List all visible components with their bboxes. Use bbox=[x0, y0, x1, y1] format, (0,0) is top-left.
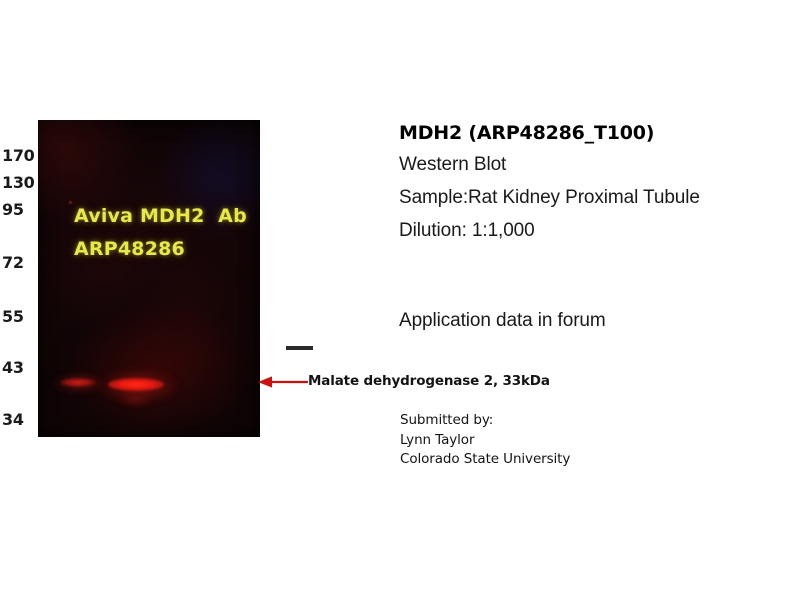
band-lane2 bbox=[108, 378, 164, 391]
ladder-mark-95: 95 bbox=[0, 202, 36, 218]
ladder-mark-55: 55 bbox=[0, 309, 36, 325]
info-dilution: Dilution: 1:1,000 bbox=[399, 214, 800, 247]
band-lane2-tail bbox=[118, 394, 152, 406]
submitted-by-institution: Colorado State University bbox=[400, 450, 570, 470]
left-arrow-icon bbox=[256, 373, 312, 391]
figure-title: MDH2 (ARP48286_T100) bbox=[399, 118, 800, 148]
dash-marker bbox=[286, 346, 313, 350]
submitted-by-block: Submitted by: Lynn Taylor Colorado State… bbox=[400, 411, 570, 470]
band-callout: Malate dehydrogenase 2, 33kDa bbox=[256, 373, 596, 391]
blot-annotation-line-1: Aviva MDH2 Ab bbox=[74, 205, 247, 227]
ladder-mark-72: 72 bbox=[0, 255, 36, 271]
blot-annotation-line-2: ARP48286 bbox=[74, 238, 185, 260]
blot-speck bbox=[68, 200, 73, 205]
ladder-mark-130: 130 bbox=[0, 175, 36, 191]
western-blot-membrane: Aviva MDH2 Ab ARP48286 bbox=[38, 120, 260, 437]
submitted-by-heading: Submitted by: bbox=[400, 411, 570, 431]
western-blot-figure: 170 130 95 72 55 43 34 Aviva MDH2 Ab ARP… bbox=[0, 0, 800, 600]
info-sample: Sample:Rat Kidney Proximal Tubule bbox=[399, 181, 800, 214]
ladder-mark-170: 170 bbox=[0, 148, 36, 164]
molecular-weight-ladder: 170 130 95 72 55 43 34 bbox=[0, 118, 36, 440]
band-callout-label: Malate dehydrogenase 2, 33kDa bbox=[308, 373, 550, 390]
info-panel: MDH2 (ARP48286_T100) Western Blot Sample… bbox=[399, 118, 800, 247]
info-assay-type: Western Blot bbox=[399, 148, 800, 181]
band-lane1 bbox=[60, 378, 96, 387]
band-lane2-glow bbox=[96, 368, 180, 404]
band-lane1-glow bbox=[52, 372, 106, 394]
ladder-mark-34: 34 bbox=[0, 412, 36, 428]
ladder-mark-43: 43 bbox=[0, 360, 36, 376]
blot-background-noise bbox=[38, 120, 260, 437]
submitted-by-person: Lynn Taylor bbox=[400, 431, 570, 451]
info-forum-note: Application data in forum bbox=[399, 308, 606, 334]
